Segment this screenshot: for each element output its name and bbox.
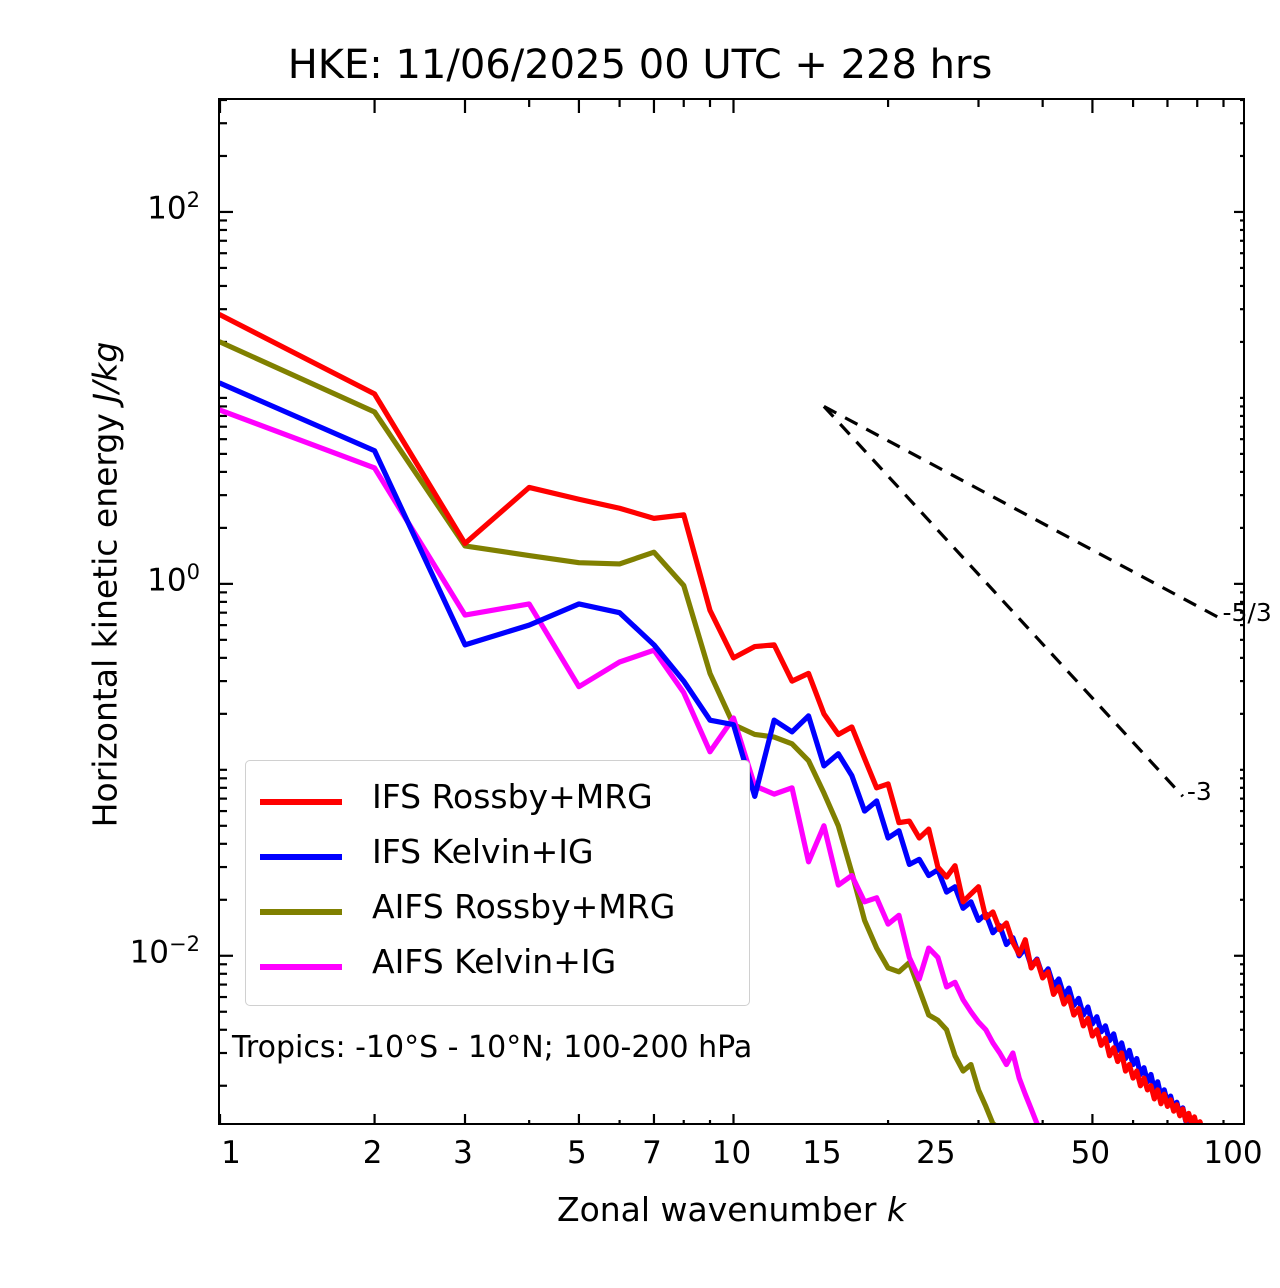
legend-color-swatch — [260, 854, 342, 860]
x-tick-label: 2 — [333, 1135, 413, 1171]
legend-item-label: AIFS Rossby+MRG — [372, 887, 675, 926]
x-axis-label: Zonal wavenumber k — [218, 1190, 1245, 1229]
y-tick-exponent: 0 — [187, 560, 200, 584]
chart-root: HKE: 11/06/2025 00 UTC + 228 hrs Horizon… — [0, 0, 1280, 1288]
slope-label-five-thirds: -5/3 — [1222, 598, 1271, 627]
x-tick-label: 7 — [612, 1135, 692, 1171]
y-tick-exponent: 2 — [187, 188, 200, 212]
reference-line--5-3 — [824, 406, 1219, 617]
legend-color-swatch — [260, 964, 342, 970]
legend-item-label: AIFS Kelvin+IG — [372, 942, 616, 981]
chart-title: HKE: 11/06/2025 00 UTC + 228 hrs — [0, 42, 1280, 88]
x-axis-label-symbol: k — [887, 1190, 906, 1229]
x-tick-label: 25 — [896, 1135, 976, 1171]
y-tick-label: 102 — [80, 188, 200, 226]
y-axis-label-units: J/kg — [86, 342, 125, 403]
x-tick-label: 10 — [692, 1135, 772, 1171]
legend-box: IFS Rossby+MRGIFS Kelvin+IGAIFS Rossby+M… — [245, 760, 750, 1006]
legend-item-label: IFS Kelvin+IG — [372, 832, 594, 871]
x-tick-label: 15 — [782, 1135, 862, 1171]
reference-slope-lines — [824, 406, 1219, 796]
slope-label-minus-three: -3 — [1187, 777, 1212, 806]
x-tick-label: 5 — [537, 1135, 617, 1171]
legend-item[interactable]: IFS Kelvin+IG — [260, 830, 740, 885]
region-annotation: Tropics: -10°S - 10°N; 100-200 hPa — [232, 1030, 752, 1065]
x-tick-label: 50 — [1050, 1135, 1130, 1171]
x-tick-label: 3 — [423, 1135, 503, 1171]
series-line-ifs-kelvin-ig — [220, 383, 1245, 1125]
x-axis-label-main: Zonal wavenumber — [557, 1190, 887, 1229]
legend-item[interactable]: IFS Rossby+MRG — [260, 775, 740, 830]
legend-color-swatch — [260, 909, 342, 915]
x-tick-label: 1 — [191, 1135, 271, 1171]
legend-item[interactable]: AIFS Kelvin+IG — [260, 940, 740, 995]
legend-color-swatch — [260, 799, 342, 805]
y-tick-mantissa: 10 — [147, 190, 186, 226]
x-tick-label: 100 — [1193, 1135, 1273, 1171]
y-tick-exponent: −2 — [169, 932, 200, 956]
y-tick-mantissa: 10 — [130, 934, 169, 970]
legend-item-label: IFS Rossby+MRG — [372, 777, 653, 816]
legend-item[interactable]: AIFS Rossby+MRG — [260, 885, 740, 940]
y-tick-mantissa: 10 — [147, 562, 186, 598]
y-axis-label-main: Horizontal kinetic energy — [86, 403, 125, 828]
y-tick-label: 100 — [80, 560, 200, 598]
y-tick-label: 10−2 — [80, 932, 200, 970]
reference-line--3 — [824, 406, 1183, 796]
